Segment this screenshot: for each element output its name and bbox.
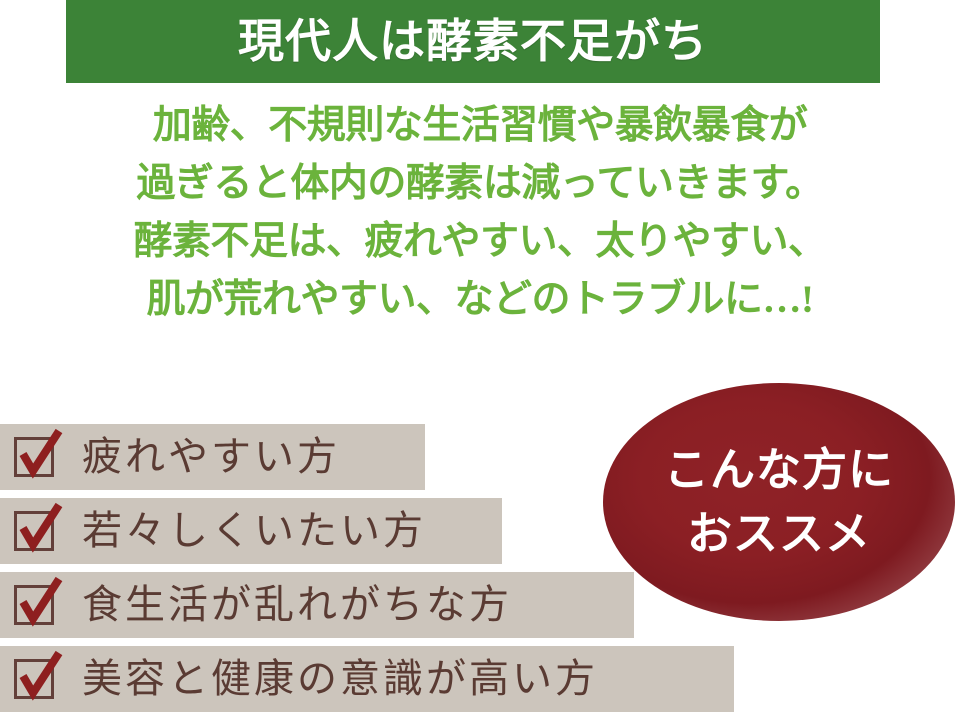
checklist-item-label: 美容と健康の意識が高い方 (82, 659, 598, 699)
checklist-item-label: 疲れやすい方 (82, 437, 340, 477)
badge-line-2: おススメ (687, 502, 871, 566)
checkbox-checked-icon[interactable] (14, 511, 54, 551)
checklist-item[interactable]: 美容と健康の意識が高い方 (0, 646, 734, 712)
badge-line-1: こんな方に (664, 438, 894, 502)
checklist-item-label: 若々しくいたい方 (82, 511, 426, 551)
checkbox-checked-icon[interactable] (14, 437, 54, 477)
checkbox-checked-icon[interactable] (14, 659, 54, 699)
checklist-item[interactable]: 疲れやすい方 (0, 424, 425, 490)
recommendation-badge: こんな方に おススメ (603, 383, 955, 621)
intro-line-4: 肌が荒れやすい、などのトラブルに…! (0, 271, 960, 329)
intro-paragraph: 加齢、不規則な生活習慣や暴飲暴食が 過ぎると体内の酵素は減っていきます。 酵素不… (0, 97, 960, 329)
intro-line-3: 酵素不足は、疲れやすい、太りやすい、 (0, 213, 960, 271)
intro-line-1: 加齢、不規則な生活習慣や暴飲暴食が (0, 97, 960, 155)
intro-line-2: 過ぎると体内の酵素は減っていきます。 (0, 155, 960, 213)
checklist-item[interactable]: 若々しくいたい方 (0, 498, 502, 564)
checklist-item[interactable]: 食生活が乱れがちな方 (0, 572, 634, 638)
page-title: 現代人は酵素不足がち (238, 19, 708, 65)
checklist-item-label: 食生活が乱れがちな方 (82, 585, 512, 625)
header-banner: 現代人は酵素不足がち (66, 0, 880, 83)
checkbox-checked-icon[interactable] (14, 585, 54, 625)
